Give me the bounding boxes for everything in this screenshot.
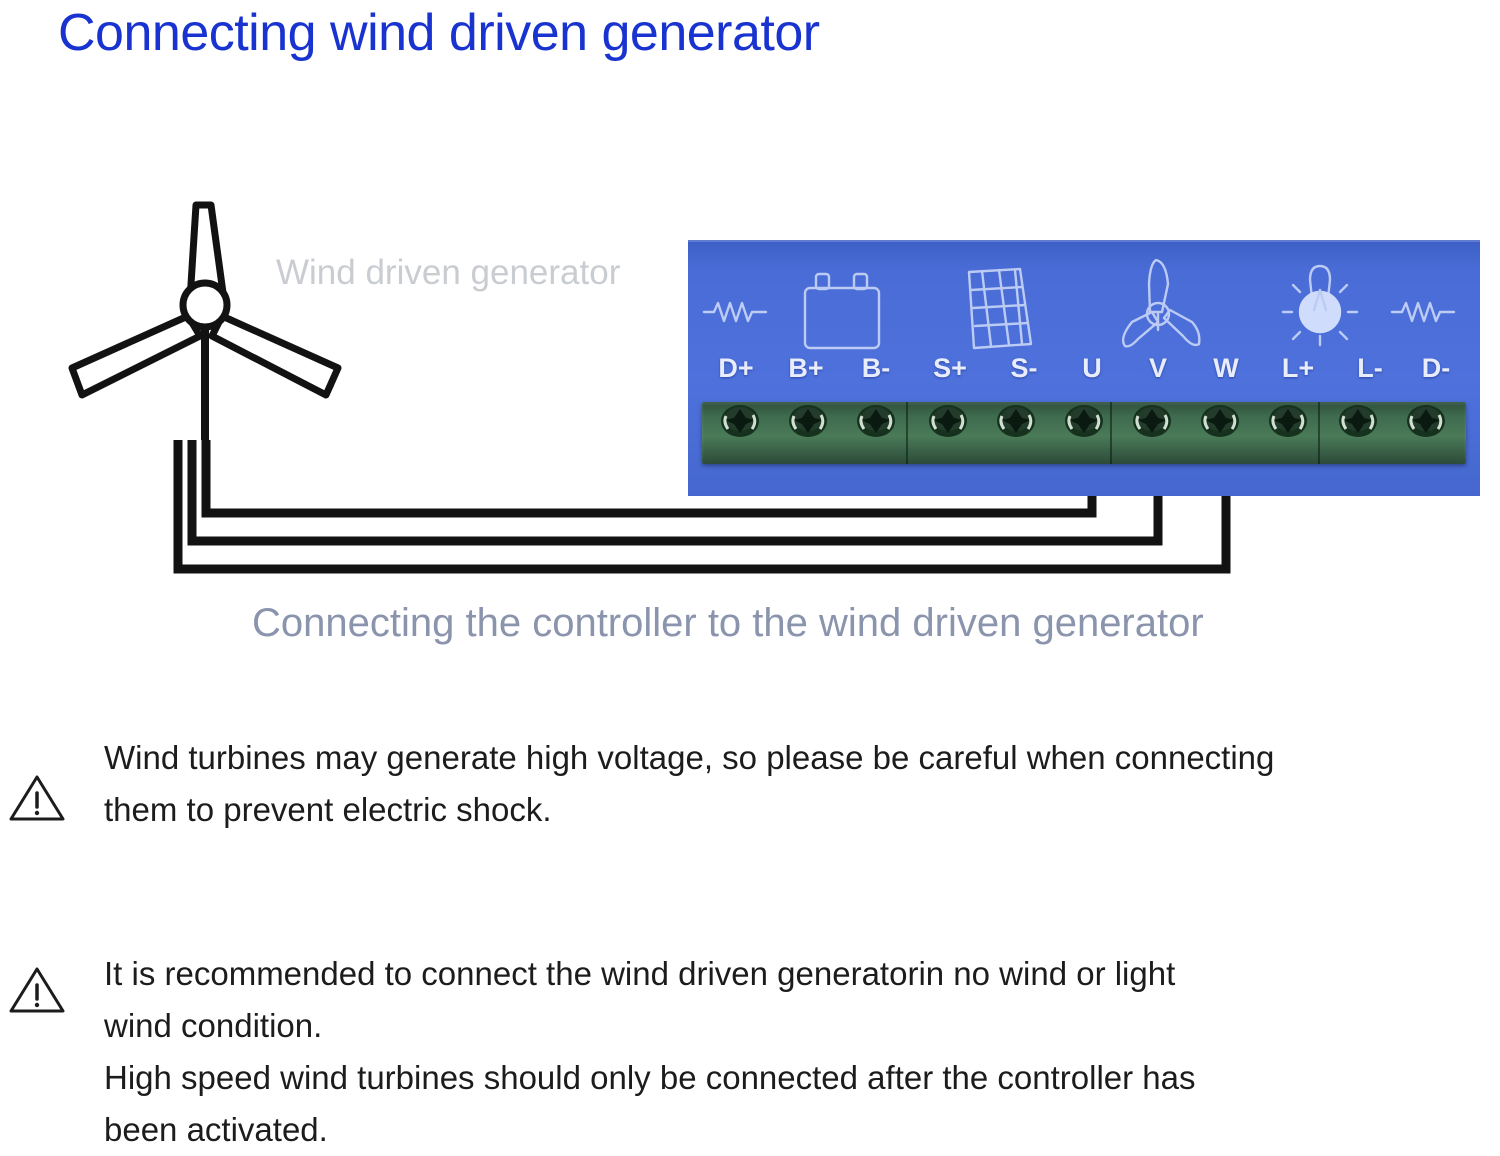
warning-triangle-icon [8, 772, 66, 824]
terminal-label-s-minus: S- [1011, 352, 1038, 384]
terminal-label-u: U [1082, 352, 1102, 384]
terminal-block-divider [1318, 402, 1320, 464]
terminal-label-l-plus: L+ [1282, 352, 1314, 384]
terminal-screw[interactable] [1406, 404, 1446, 438]
terminal-block [702, 402, 1466, 464]
wind-turbine-icon [1123, 260, 1199, 346]
terminal-screw-v[interactable] [1132, 404, 1172, 438]
dump-load-resistor-icon [1392, 303, 1454, 321]
warning-triangle-icon [8, 964, 66, 1016]
charge-controller-board: D+ B+ B- S+ S- U V W L+ L- D- [688, 240, 1480, 496]
warning-note-1-line-2: them to prevent electric shock. [104, 784, 1478, 836]
warning-note-2: It is recommended to connect the wind dr… [8, 948, 1478, 1156]
wind-turbine-icon [72, 205, 338, 440]
terminal-screw[interactable] [1338, 404, 1378, 438]
warning-note-2-line-2: wind condition. [104, 1000, 1478, 1052]
warning-note-1: Wind turbines may generate high voltage,… [8, 732, 1478, 836]
solar-panel-icon [969, 269, 1031, 348]
terminal-screw[interactable] [720, 404, 760, 438]
terminal-label-s-plus: S+ [933, 352, 967, 384]
terminal-label-d-plus: D+ [718, 352, 753, 384]
dump-load-resistor-icon [704, 303, 766, 321]
diagram-caption: Connecting the controller to the wind dr… [252, 598, 1204, 648]
battery-icon [805, 274, 879, 348]
terminal-label-d-minus: D- [1422, 352, 1451, 384]
light-bulb-icon [1283, 266, 1357, 345]
warning-note-2-text: It is recommended to connect the wind dr… [66, 948, 1478, 1156]
terminal-label-w: W [1213, 352, 1238, 384]
terminal-block-divider [906, 402, 908, 464]
terminal-screw[interactable] [928, 404, 968, 438]
terminal-screw[interactable] [856, 404, 896, 438]
terminal-screw-w[interactable] [1200, 404, 1240, 438]
terminal-screw[interactable] [1268, 404, 1308, 438]
terminal-label-b-minus: B- [862, 352, 891, 384]
warning-note-2-line-1: It is recommended to connect the wind dr… [104, 948, 1478, 1000]
wind-generator-label: Wind driven generator [276, 252, 620, 294]
terminal-screw[interactable] [996, 404, 1036, 438]
warning-note-2-line-3: High speed wind turbines should only be … [104, 1052, 1478, 1104]
warning-note-1-text: Wind turbines may generate high voltage,… [66, 732, 1478, 836]
warning-note-2-line-4: been activated. [104, 1104, 1478, 1156]
terminal-label-v: V [1149, 352, 1167, 384]
terminal-screw-u[interactable] [1064, 404, 1104, 438]
terminal-label-l-minus: L- [1357, 352, 1382, 384]
terminal-label-row: D+ B+ B- S+ S- U V W L+ L- D- [688, 352, 1480, 394]
terminal-screw[interactable] [788, 404, 828, 438]
terminal-label-b-plus: B+ [788, 352, 823, 384]
terminal-block-divider [1110, 402, 1112, 464]
warning-note-1-line-1: Wind turbines may generate high voltage,… [104, 732, 1478, 784]
controller-icon-row [688, 240, 1480, 370]
